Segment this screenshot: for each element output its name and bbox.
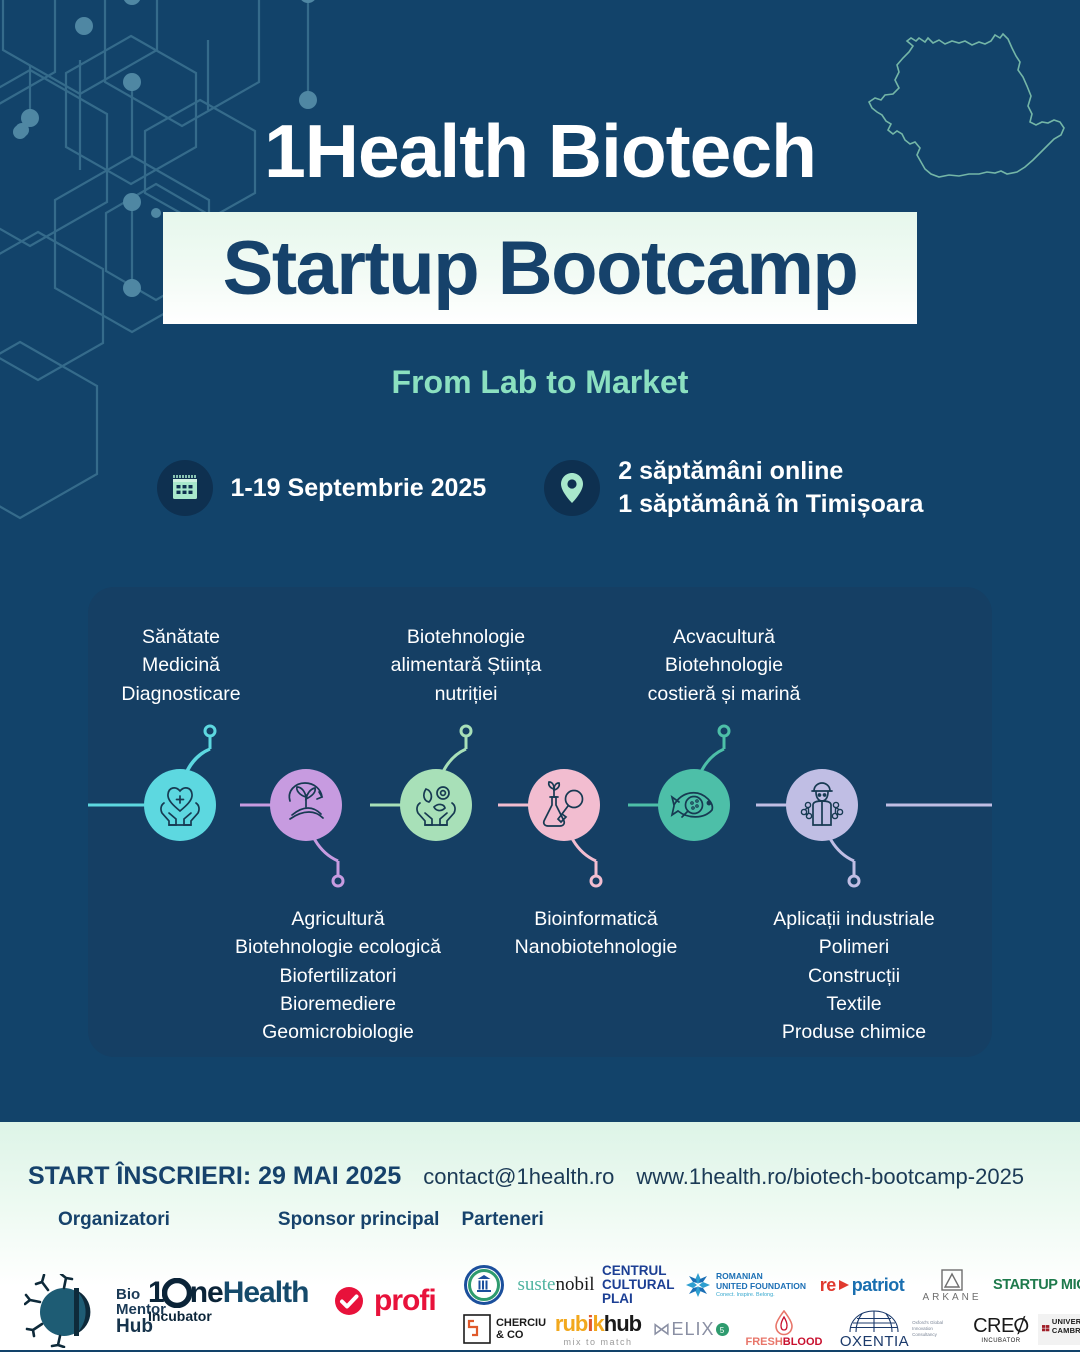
section-headings-row: Organizatori Sponsor principal Parteneri	[0, 1191, 1080, 1231]
event-date-line: 1-19 Septembrie 2025	[231, 472, 487, 505]
contact-email-link[interactable]: contact@1health.ro	[423, 1164, 614, 1190]
partner-logo-grid: sustenobil CENTRUL CULTURAL PLAI ROMANIA…	[458, 1262, 1078, 1352]
onehealth-health: Health	[223, 1276, 309, 1310]
timeline-label-3: Biotehnologie alimentară Știința nutriți…	[346, 623, 586, 708]
label-line: Sănătate	[78, 623, 284, 651]
label-line: nutriției	[346, 680, 586, 708]
sustenobil-suste: suste	[517, 1274, 555, 1296]
page-subtitle: Startup Bootcamp	[223, 225, 858, 312]
location-badge	[544, 460, 600, 516]
label-line: Medicină	[78, 651, 284, 679]
timeline-label-4: Bioinformatică Nanobiotehnologie	[476, 905, 716, 962]
ccp-line: PLAI	[602, 1292, 633, 1306]
helix-logo: ⋈ELIX 5	[646, 1319, 736, 1340]
helix-wordmark: ⋈ELIX	[652, 1319, 714, 1340]
startup-migrants-wordmark: STARTUP MIGRANTS	[993, 1277, 1080, 1293]
helix-dot-icon: 5	[715, 1322, 730, 1337]
freshblood-logo: FRESHBLOOD	[736, 1310, 832, 1348]
timeline-label-2: Agricultură Biotehnologie ecologică Biof…	[218, 905, 458, 1046]
repatriot-patriot: patriot	[852, 1275, 905, 1296]
event-meta-row: 1-19 Septembrie 2025 2 săptămâni online …	[0, 455, 1080, 521]
label-line: Biofertilizatori	[218, 962, 458, 990]
creo-wordmark: CREØ	[973, 1315, 1029, 1338]
timeline-node-5	[658, 769, 730, 841]
calendar-badge	[157, 460, 213, 516]
rubikhub-wordmark: rubikhub	[555, 1311, 641, 1337]
partners-heading: Parteneri	[461, 1209, 543, 1231]
creo-incubator-logo: CREØ INCUBATOR	[964, 1315, 1038, 1344]
label-line: Biotehnologie	[346, 623, 586, 651]
arkane-logo: ARKANE	[914, 1268, 990, 1303]
centrul-cultural-plai-logo: CENTRUL CULTURAL PLAI	[602, 1264, 680, 1305]
hero-section: 1Health Biotech Startup Bootcamp From La…	[0, 0, 1080, 401]
label-line: Bioinformatică	[476, 905, 716, 933]
freshblood-wordmark: FRESHBLOOD	[745, 1336, 822, 1348]
label-line: Acvacultură	[604, 623, 844, 651]
oxentia-globe-icon	[848, 1309, 900, 1333]
onehealth-ne: ne	[190, 1276, 223, 1310]
rubik-hub-logo: rubikhub mix to match	[550, 1311, 646, 1347]
registration-start-text: START ÎNSCRIERI: 29 MAI 2025	[28, 1162, 401, 1191]
website-url-link[interactable]: www.1health.ro/biotech-bootcamp-2025	[636, 1164, 1024, 1190]
event-date-text: 1-19 Septembrie 2025	[231, 472, 487, 505]
svg-text:5: 5	[719, 1326, 724, 1335]
partner-row-1: sustenobil CENTRUL CULTURAL PLAI ROMANIA…	[458, 1262, 1078, 1308]
timeline-node-4	[528, 769, 600, 841]
repatriot-logo: re patriot	[810, 1275, 914, 1296]
label-line: Diagnosticare	[78, 680, 284, 708]
onehealth-wordmark: 1 ne Health	[148, 1276, 308, 1310]
profi-logo: profi	[332, 1284, 436, 1318]
ccp-line: CULTURAL	[602, 1278, 674, 1292]
ruf-line: UNITED FOUNDATION	[716, 1282, 806, 1292]
creo-text: CRE	[973, 1315, 1014, 1337]
sustenobil-nobil: nobil	[555, 1274, 594, 1296]
event-location-item: 2 săptămâni online 1 săptămână în Timișo…	[544, 455, 923, 521]
label-line: costieră și marină	[604, 680, 844, 708]
repatriot-arrow-icon	[837, 1278, 851, 1292]
ruf-burst-icon	[684, 1271, 712, 1299]
rubik-k: k	[593, 1311, 604, 1336]
label-line: Biotehnologie ecologică	[218, 933, 458, 961]
event-location-line-1: 2 săptămâni online	[618, 455, 923, 488]
startup-migrants-logo: STARTUP MIGRANTS	[990, 1277, 1080, 1293]
event-location-text: 2 săptămâni online 1 săptămână în Timișo…	[618, 455, 923, 521]
cherciu-wordmark: CHERCIU & CO	[496, 1317, 546, 1341]
sustenobil-logo: sustenobil	[510, 1274, 602, 1296]
repatriot-re: re	[820, 1275, 836, 1296]
event-location-line-2: 1 săptămână în Timișoara	[618, 488, 923, 521]
timeline-card: Sănătate Medicină Diagnosticare Biotehno…	[88, 587, 992, 1057]
label-line: Aplicații industriale	[734, 905, 974, 933]
cambridge-line-2: enterprise	[1052, 1335, 1080, 1342]
cambridge-wordmark: UNIVERSITY OF CAMBRIDGE enterprise	[1052, 1317, 1080, 1342]
timeline-node-1	[144, 769, 216, 841]
onehealth-subtitle: Incubator	[148, 1308, 212, 1324]
label-line: Produse chimice	[734, 1018, 974, 1046]
cherciu-line: CHERCIU	[496, 1317, 546, 1329]
organizers-heading: Organizatori	[58, 1209, 170, 1231]
cherciu-and-co-logo: CHERCIU & CO	[458, 1313, 550, 1345]
cherciu-line: & CO	[496, 1329, 546, 1341]
timeline-label-1: Sănătate Medicină Diagnosticare	[78, 623, 284, 708]
oxentia-tagline: Oxford's Global Innovation Consultancy	[912, 1320, 956, 1338]
calendar-icon	[169, 472, 201, 504]
label-line: Nanobiotehnologie	[476, 933, 716, 961]
oxentia-logo: OXENTIA Oxford's Global Innovation Consu…	[832, 1309, 964, 1350]
romanian-united-foundation-logo: ROMANIAN UNITED FOUNDATION Conect. Inspi…	[680, 1271, 810, 1299]
label-line: Textile	[734, 990, 974, 1018]
label-line: Geomicrobiologie	[218, 1018, 458, 1046]
upt-seal-icon	[464, 1265, 504, 1305]
label-line: alimentară Știința	[346, 651, 586, 679]
label-line: Agricultură	[218, 905, 458, 933]
arkane-mark-icon	[940, 1268, 964, 1292]
location-pin-icon	[557, 471, 587, 505]
title-highlight-band: Startup Bootcamp	[163, 212, 917, 324]
label-line: Bioremediere	[218, 990, 458, 1018]
page-title: 1Health Biotech	[0, 108, 1080, 194]
timeline-label-5: Acvacultură Biotehnologie costieră și ma…	[604, 623, 844, 708]
bio-mentor-hub-cell-mark	[24, 1274, 112, 1348]
bio-mentor-hub-logo: Bio Mentor Hub	[24, 1274, 166, 1348]
creo-subtitle: INCUBATOR	[981, 1338, 1020, 1344]
ruf-wordmark: ROMANIAN UNITED FOUNDATION Conect. Inspi…	[716, 1272, 806, 1298]
profi-wordmark: profi	[374, 1284, 436, 1318]
fresh-part: FRESH	[745, 1336, 782, 1348]
onehealth-incubator-logo: 1 ne Health Incubator	[148, 1276, 308, 1324]
tagline: From Lab to Market	[0, 364, 1080, 401]
ccp-line: CENTRUL	[602, 1264, 667, 1278]
cambridge-line-1: UNIVERSITY OF CAMBRIDGE	[1052, 1317, 1080, 1335]
university-of-cambridge-enterprise-logo: UNIVERSITY OF CAMBRIDGE enterprise	[1038, 1314, 1080, 1345]
main-sponsor-heading: Sponsor principal	[278, 1209, 440, 1231]
label-line: Polimeri	[734, 933, 974, 961]
profi-check-icon	[332, 1284, 366, 1318]
rubik-hub: hub	[604, 1311, 641, 1336]
rubikhub-tagline: mix to match	[563, 1337, 632, 1347]
oxentia-stack: OXENTIA	[840, 1309, 909, 1350]
upt-seal-logo	[458, 1265, 510, 1305]
event-date-item: 1-19 Septembrie 2025	[157, 455, 487, 521]
cherciu-mark-icon	[462, 1313, 492, 1345]
blood-part: BLOOD	[783, 1336, 823, 1348]
onehealth-o-mark	[162, 1278, 192, 1308]
arkane-wordmark: ARKANE	[922, 1292, 981, 1303]
partner-row-2: CHERCIU & CO rubikhub mix to match ⋈ELIX…	[458, 1306, 1078, 1352]
oxentia-wordmark: OXENTIA	[840, 1333, 909, 1350]
label-line: Biotehnologie	[604, 651, 844, 679]
ruf-tagline: Conect. Inspire. Belong.	[716, 1292, 806, 1298]
cambridge-crest-icon	[1042, 1321, 1050, 1337]
freshblood-drop-icon	[772, 1310, 796, 1336]
rubik-rub: rub	[555, 1311, 587, 1336]
cta-row: START ÎNSCRIERI: 29 MAI 2025 contact@1he…	[0, 1122, 1080, 1191]
timeline-label-6: Aplicații industriale Polimeri Construcț…	[734, 905, 974, 1046]
label-line: Construcții	[734, 962, 974, 990]
